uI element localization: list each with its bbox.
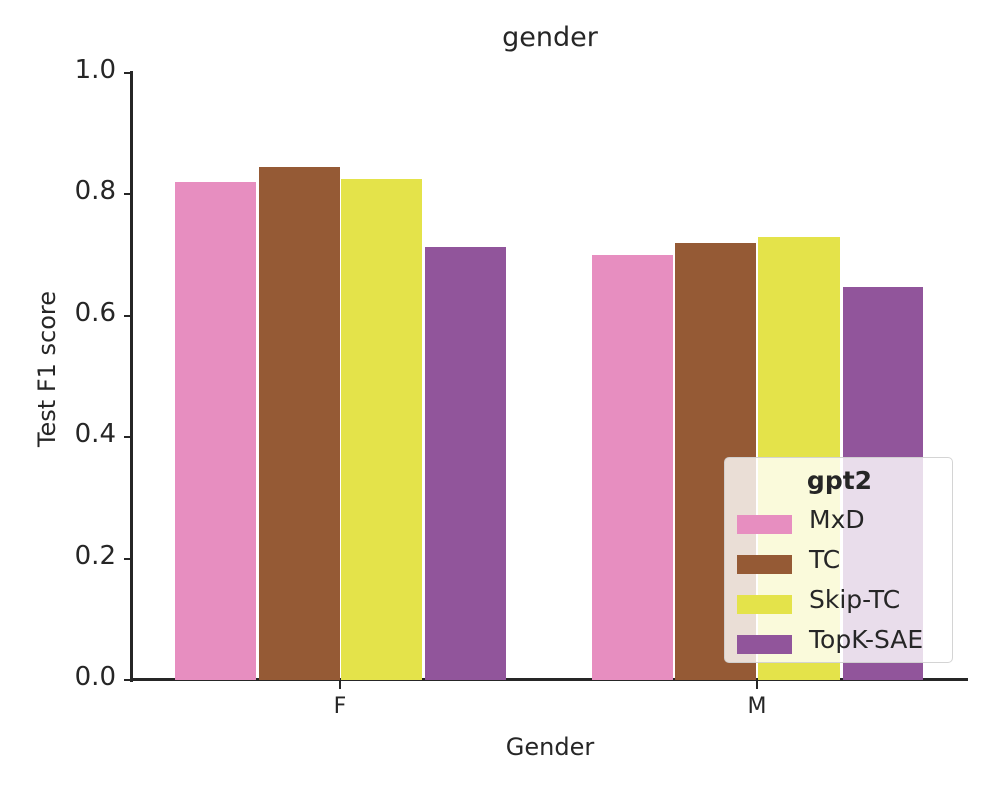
x-tick-mark [756, 680, 758, 689]
bar-F-Skip-TC [341, 179, 422, 680]
y-tick-label: 0.0 [75, 662, 116, 692]
x-tick-label: M [717, 694, 797, 719]
legend-label: MxD [809, 505, 865, 534]
y-tick-label: 0.8 [75, 176, 116, 206]
bar-F-MxD [175, 182, 256, 680]
x-tick-label: F [300, 694, 380, 719]
y-tick-mark [124, 436, 132, 438]
legend-label: TopK-SAE [809, 625, 923, 654]
y-tick-mark [124, 679, 132, 681]
y-tick-label: 0.6 [75, 298, 116, 328]
y-tick-mark [124, 193, 132, 195]
legend-swatch-skip-tc [737, 595, 792, 614]
bar-F-TC [259, 167, 340, 680]
bar-M-MxD [592, 255, 673, 680]
legend-swatch-topk-sae [737, 635, 792, 654]
x-tick-mark [339, 680, 341, 689]
legend-swatch-mxd [737, 515, 792, 534]
legend-label: TC [809, 545, 840, 574]
legend-label: Skip-TC [809, 585, 900, 614]
figure-canvas: gender 1.0 0.8 0.6 0.4 0.2 0.0 F M [0, 0, 996, 797]
y-tick-mark [124, 558, 132, 560]
legend-swatch-tc [737, 555, 792, 574]
y-tick-label: 1.0 [75, 55, 116, 85]
y-axis-spine [130, 71, 133, 682]
y-tick-mark [124, 315, 132, 317]
y-tick-mark [124, 72, 132, 74]
chart-title: gender [132, 22, 968, 53]
bar-F-TopK-SAE [425, 247, 506, 680]
y-tick-label: 0.2 [75, 541, 116, 571]
y-tick-label: 0.4 [75, 419, 116, 449]
legend-title: gpt2 [725, 466, 954, 495]
x-axis-label: Gender [132, 733, 968, 761]
legend[interactable]: gpt2 MxD TC Skip-TC TopK-SAE [724, 457, 953, 663]
y-axis-label: Test F1 score [33, 204, 61, 534]
